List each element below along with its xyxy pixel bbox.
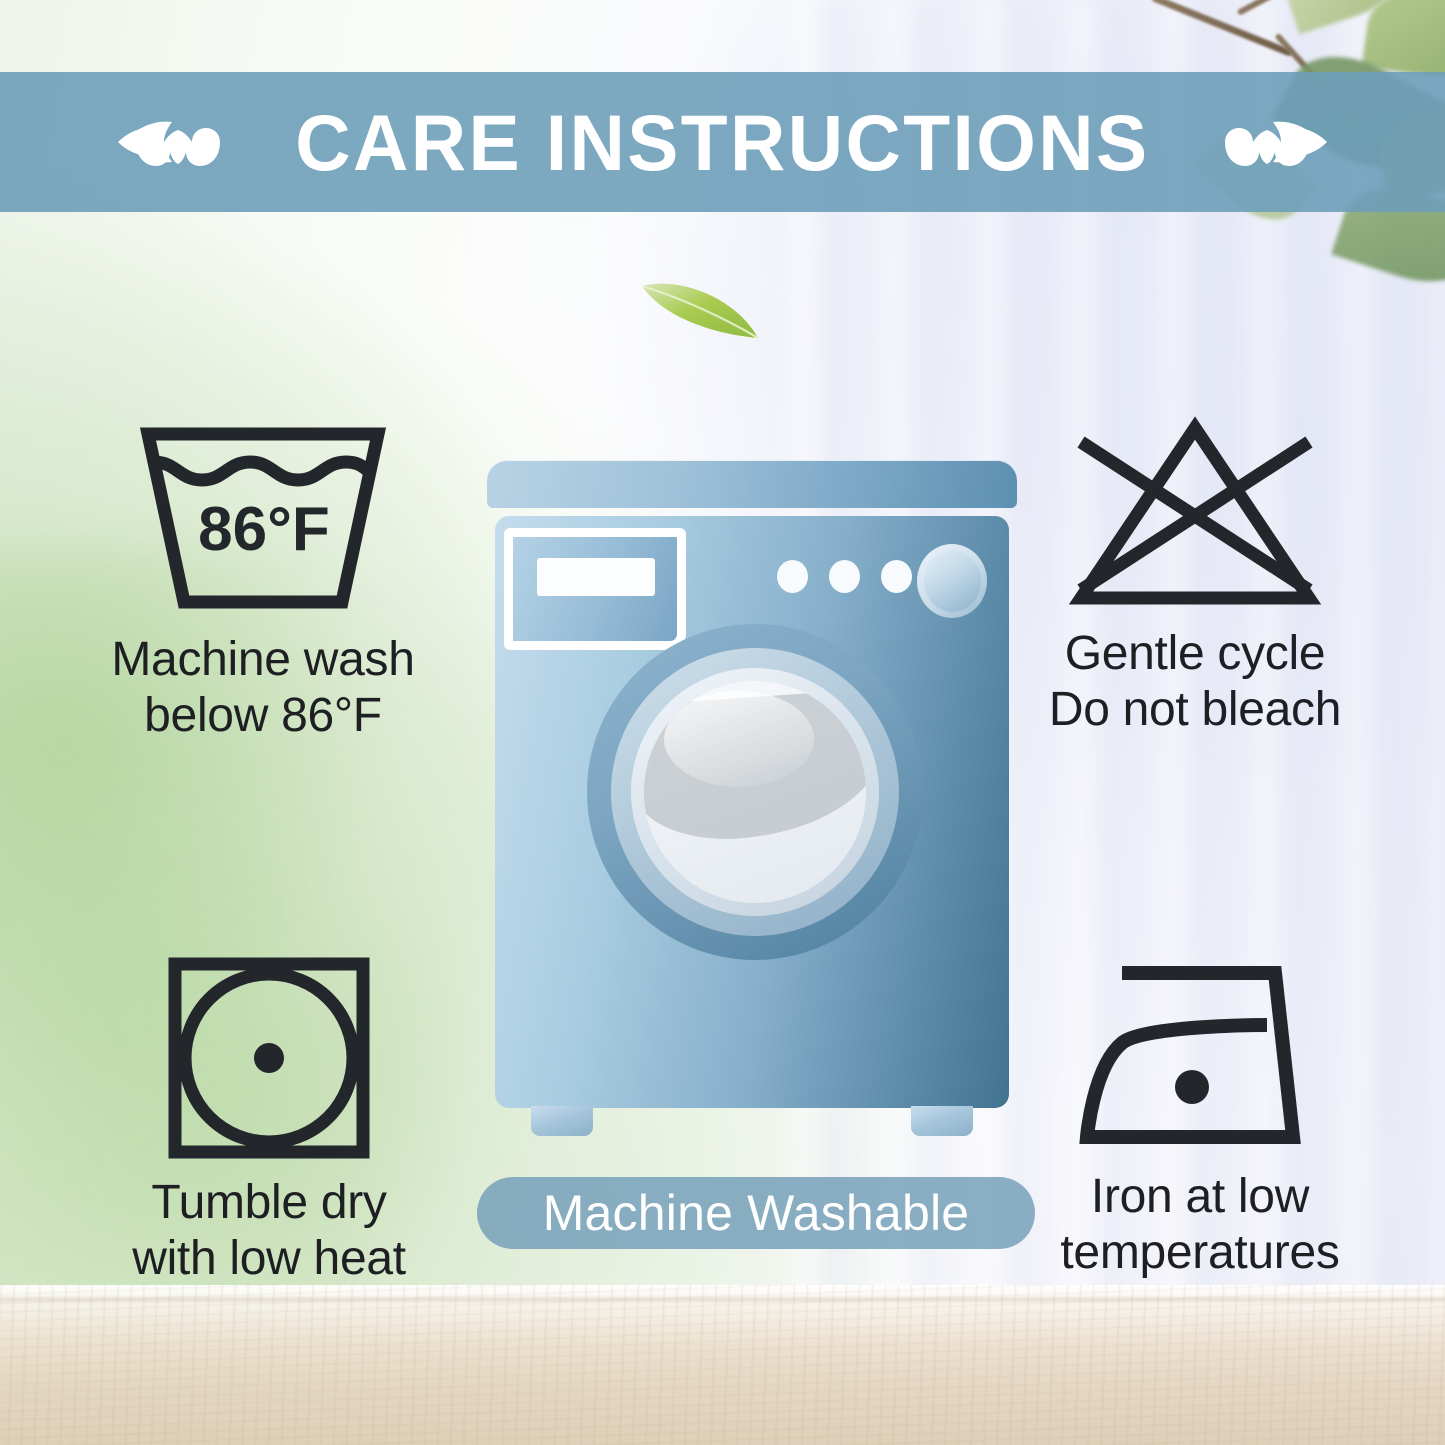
iron-low-heat-icon (1075, 955, 1325, 1155)
machine-drawer-slot (537, 558, 655, 596)
wood-grain-texture (0, 1285, 1445, 1445)
badge-label: Machine Washable (543, 1188, 970, 1238)
care-label-do-not-bleach: Gentle cycle Do not bleach (1049, 626, 1341, 738)
care-item-iron-low: Iron at low temperatures (965, 955, 1435, 1281)
machine-foot-left (531, 1106, 593, 1136)
care-instructions-infographic: CARE INSTRUCTIONS 86°F Machine wash belo… (0, 0, 1445, 1445)
machine-indicator-dot (829, 560, 860, 593)
wash-tub-icon: 86°F (128, 418, 398, 618)
wash-temperature-value: 86°F (198, 495, 330, 564)
care-label-machine-wash: Machine wash below 86°F (111, 632, 414, 744)
care-label-tumble-dry: Tumble dry with low heat (132, 1175, 406, 1287)
floating-leaf-icon (636, 272, 766, 342)
page-title: CARE INSTRUCTIONS (295, 103, 1149, 182)
fleur-de-lis-ornament-right-icon (1203, 90, 1331, 194)
care-item-do-not-bleach: Gentle cycle Do not bleach (960, 412, 1430, 738)
machine-indicator-dot (777, 560, 808, 593)
machine-washable-badge: Machine Washable (477, 1177, 1035, 1249)
machine-indicator-dot (881, 560, 912, 593)
machine-door-highlight (664, 691, 814, 787)
machine-door-glass (644, 681, 866, 903)
header-banner: CARE INSTRUCTIONS (0, 72, 1445, 212)
machine-control-knob (924, 550, 981, 612)
do-not-bleach-triangle-icon (1065, 412, 1325, 612)
machine-top-lid (487, 460, 1017, 508)
tumble-dry-low-icon (166, 955, 372, 1161)
care-item-machine-wash: 86°F Machine wash below 86°F (28, 418, 498, 744)
wood-table-edge (0, 1297, 1445, 1302)
care-label-iron-low: Iron at low temperatures (1060, 1169, 1339, 1281)
fleur-de-lis-ornament-left-icon (114, 90, 242, 194)
care-item-tumble-dry: Tumble dry with low heat (44, 955, 494, 1287)
washing-machine-illustration (487, 460, 1017, 1120)
machine-foot-right (911, 1106, 973, 1136)
machine-indicator-lights (777, 560, 912, 593)
